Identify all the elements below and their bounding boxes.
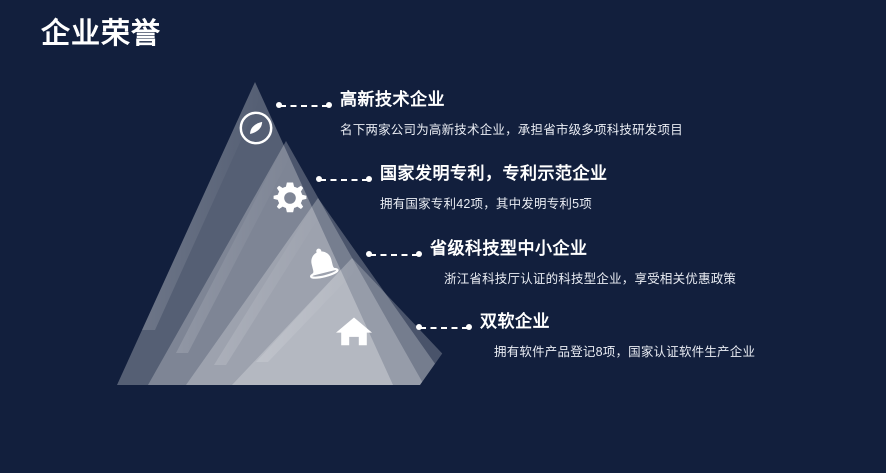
page-title: 企业荣誉 bbox=[41, 14, 161, 54]
connector-line-4 bbox=[416, 319, 472, 339]
honor-item-4: 双软企业 拥有软件产品登记8项，国家认证软件生产企业 bbox=[416, 310, 755, 361]
connector-dot-end bbox=[466, 324, 472, 330]
home-icon bbox=[333, 310, 375, 352]
honor-item-2-desc: 拥有国家专利42项，其中发明专利5项 bbox=[380, 195, 608, 213]
connector-dash bbox=[370, 254, 418, 256]
honor-item-3-title: 省级科技型中小企业 bbox=[430, 239, 588, 258]
bell-icon bbox=[301, 243, 343, 285]
connector-dash bbox=[420, 327, 468, 329]
honor-item-2-title: 国家发明专利，专利示范企业 bbox=[380, 164, 608, 183]
compass-icon bbox=[237, 109, 275, 147]
connector-line-2 bbox=[316, 171, 372, 191]
honor-item-3-text: 省级科技型中小企业 浙江省科技厅认证的科技型企业，享受相关优惠政策 bbox=[422, 237, 736, 288]
connector-dash bbox=[280, 105, 328, 107]
honor-item-4-title: 双软企业 bbox=[480, 312, 550, 331]
honor-item-2-text: 国家发明专利，专利示范企业 拥有国家专利42项，其中发明专利5项 bbox=[372, 162, 608, 213]
honor-item-1: 高新技术企业 名下两家公司为高新技术企业，承担省市级多项科技研发项目 bbox=[276, 88, 683, 139]
honor-item-4-text: 双软企业 拥有软件产品登记8项，国家认证软件生产企业 bbox=[472, 310, 755, 361]
honor-item-1-desc: 名下两家公司为高新技术企业，承担省市级多项科技研发项目 bbox=[340, 121, 683, 139]
honor-item-3-desc: 浙江省科技厅认证的科技型企业，享受相关优惠政策 bbox=[444, 270, 736, 288]
honors-slide: 企业荣誉 bbox=[0, 0, 886, 473]
pyramid-layer-3 bbox=[186, 198, 450, 385]
honor-item-1-title: 高新技术企业 bbox=[340, 90, 445, 109]
connector-dot-end bbox=[416, 251, 422, 257]
honor-item-4-desc: 拥有软件产品登记8项，国家认证软件生产企业 bbox=[494, 343, 755, 361]
honor-item-2: 国家发明专利，专利示范企业 拥有国家专利42项，其中发明专利5项 bbox=[316, 162, 608, 213]
honor-item-1-text: 高新技术企业 名下两家公司为高新技术企业，承担省市级多项科技研发项目 bbox=[332, 88, 683, 139]
connector-dot-end bbox=[366, 176, 372, 182]
gear-icon bbox=[270, 178, 310, 218]
connector-dash bbox=[320, 179, 368, 181]
honor-item-3: 省级科技型中小企业 浙江省科技厅认证的科技型企业，享受相关优惠政策 bbox=[366, 237, 736, 288]
connector-line-3 bbox=[366, 246, 422, 266]
connector-line-1 bbox=[276, 97, 332, 117]
connector-dot-end bbox=[326, 102, 332, 108]
